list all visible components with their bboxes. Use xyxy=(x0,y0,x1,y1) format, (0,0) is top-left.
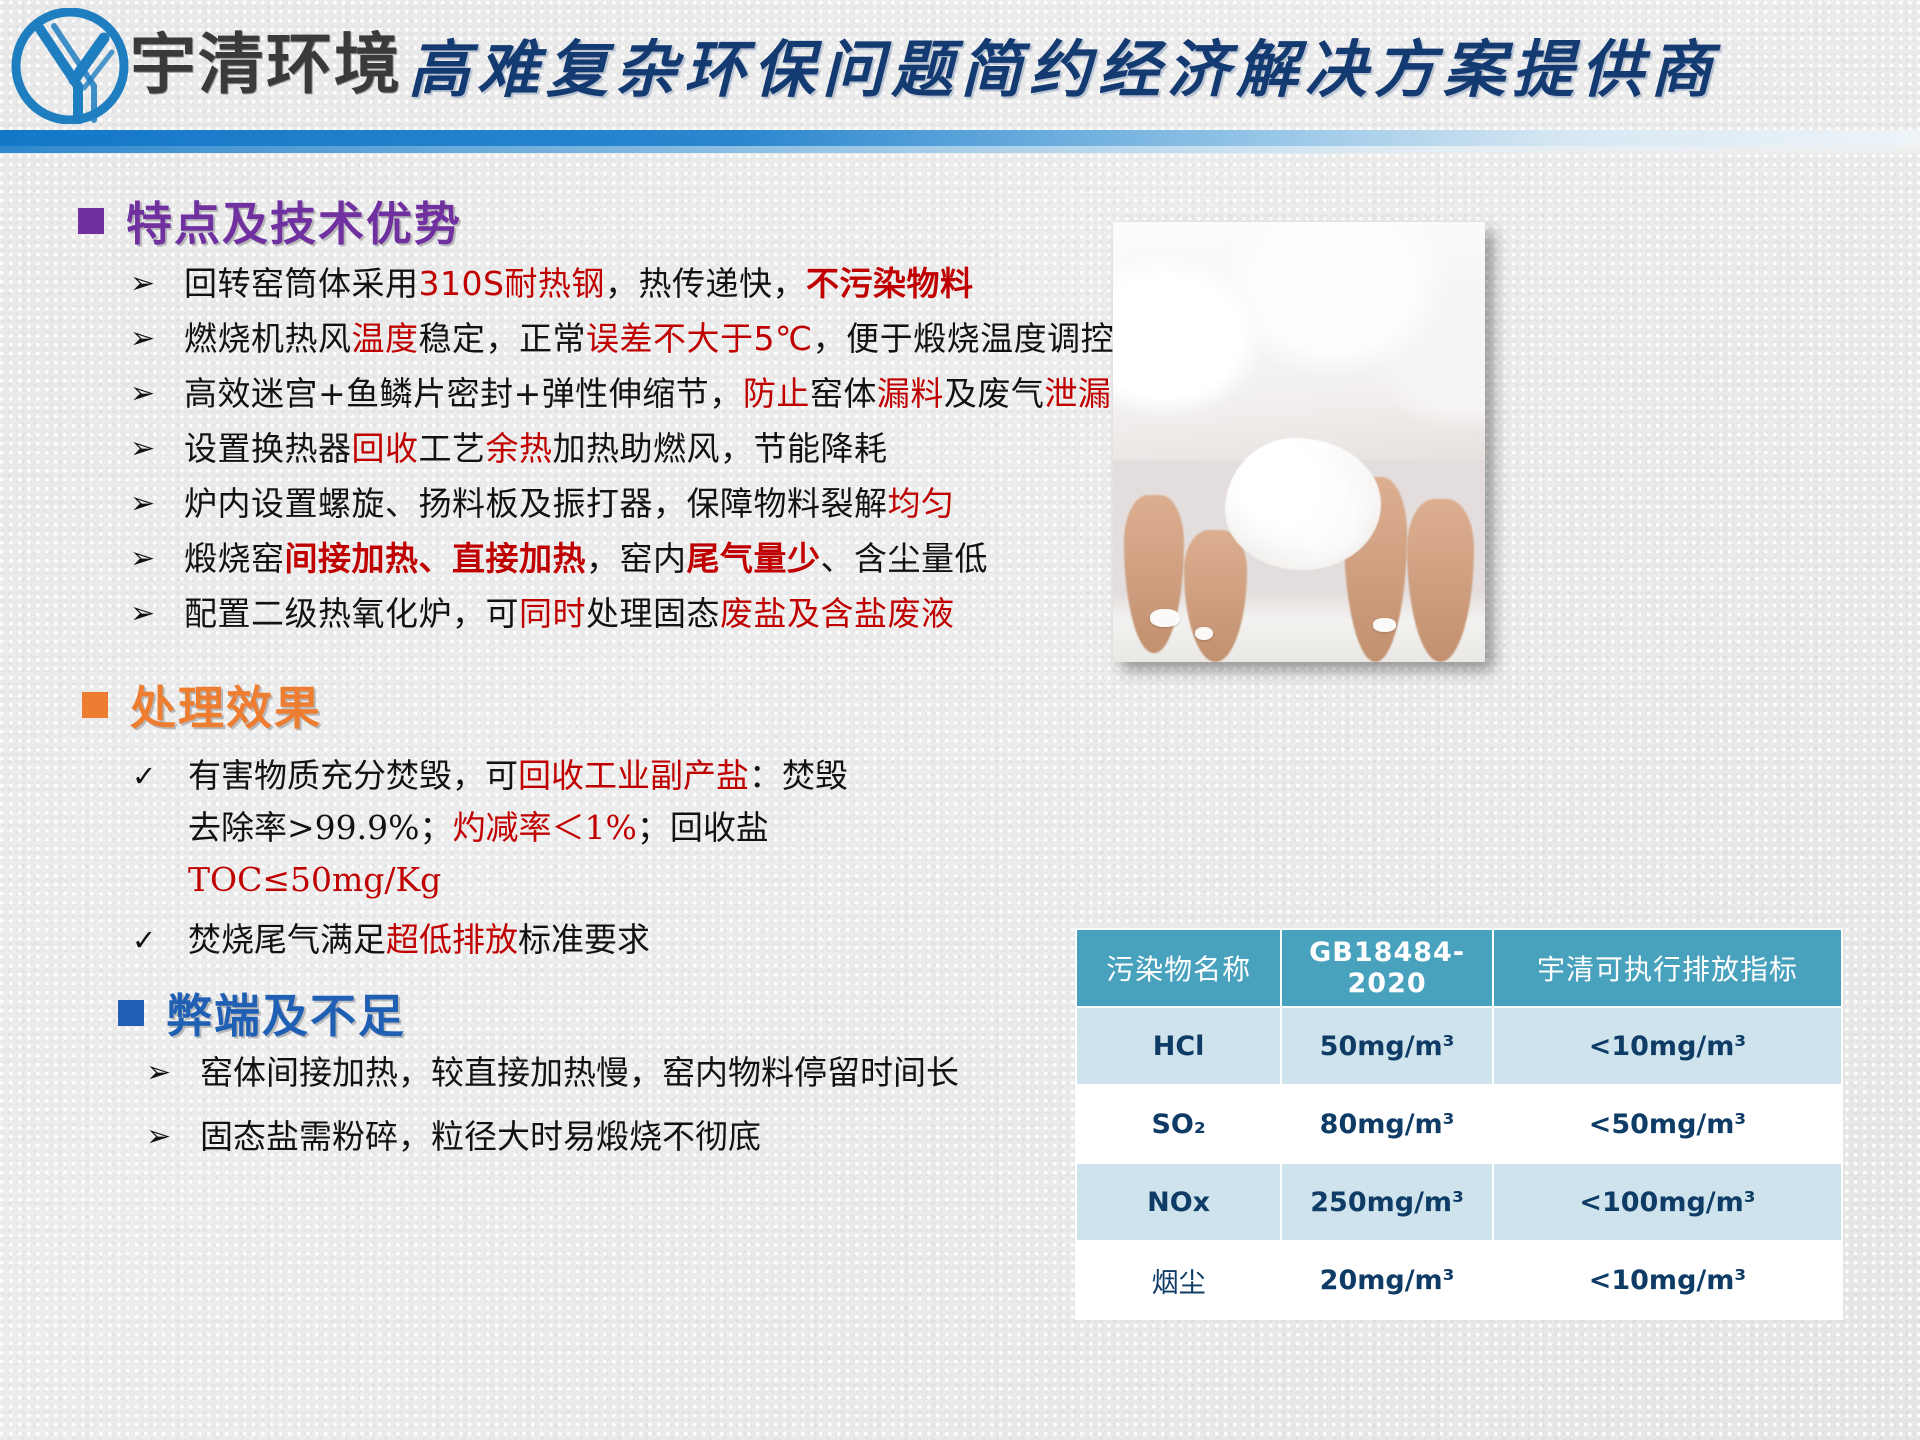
list-item: ➢窑体间接加热，较直接加热慢，窑内物料停留时间长 xyxy=(146,1050,1156,1096)
list-item: ➢煅烧窑间接加热、直接加热，窑内尾气量少、含尘量低 xyxy=(130,537,1140,581)
text-run: 固态盐需粉碎，粒径大时易煅烧不彻底 xyxy=(200,1117,761,1156)
table-cell-standard: 20mg/m³ xyxy=(1281,1241,1493,1319)
text-run: 回收工业副产盐 xyxy=(518,756,749,795)
table-row: HCl50mg/m³<10mg/m³ xyxy=(1076,1007,1842,1085)
table-column-header: 宇清可执行排放指标 xyxy=(1493,929,1842,1007)
table-cell-standard: 250mg/m³ xyxy=(1281,1163,1493,1241)
bullet-square-icon xyxy=(82,692,108,718)
list-item-text: 焚烧尾气满足超低排放标准要求 xyxy=(188,914,650,966)
text-run: 标准要求 xyxy=(518,920,650,959)
company-slogan: 高难复杂环保问题简约经济解决方案提供商 xyxy=(408,24,1719,116)
text-run: 防止 xyxy=(743,374,810,413)
bullet-marker-icon: ➢ xyxy=(130,372,184,416)
text-run: 煅烧窑 xyxy=(184,539,285,578)
text-run: 配置二级热氧化炉，可 xyxy=(184,594,519,633)
bullet-marker-icon: ✓ xyxy=(132,750,188,802)
bullet-marker-icon: ➢ xyxy=(130,592,184,636)
list-item-text: 窑体间接加热，较直接加热慢，窑内物料停留时间长 xyxy=(200,1050,959,1096)
text-run: 及废气 xyxy=(944,374,1045,413)
table-cell-standard: 80mg/m³ xyxy=(1281,1085,1493,1163)
section-title-features: 特点及技术优势 xyxy=(126,188,462,254)
list-item-line: TOC≤50mg/Kg xyxy=(188,854,848,906)
text-run: 灼减率＜1% xyxy=(452,808,636,847)
table-cell-yuqing: <100mg/m³ xyxy=(1493,1163,1842,1241)
bullet-marker-icon: ➢ xyxy=(146,1114,200,1160)
list-item-text: 设置换热器回收工艺余热加热助燃风，节能降耗 xyxy=(184,427,888,471)
features-list: ➢回转窑筒体采用310S耐热钢，热传递快，不污染物料➢燃烧机热风温度稳定，正常误… xyxy=(130,262,1140,647)
section-title-drawbacks: 弊端及不足 xyxy=(166,980,406,1046)
emission-standards-table: 污染物名称GB18484-2020宇清可执行排放指标 HCl50mg/m³<10… xyxy=(1075,928,1843,1320)
table-row: 烟尘20mg/m³<10mg/m³ xyxy=(1076,1241,1842,1319)
table-header: 污染物名称GB18484-2020宇清可执行排放指标 xyxy=(1076,929,1842,1007)
text-run: 漏料 xyxy=(877,374,944,413)
text-run: 燃烧机热风 xyxy=(184,319,352,358)
list-item-text: 煅烧窑间接加热、直接加热，窑内尾气量少、含尘量低 xyxy=(184,537,988,581)
header-divider-primary xyxy=(0,130,1920,146)
section-heading-features: 特点及技术优势 xyxy=(78,188,462,254)
table-body: HCl50mg/m³<10mg/m³SO₂80mg/m³<50mg/m³NOx2… xyxy=(1076,1007,1842,1319)
text-run: 窑体 xyxy=(810,374,877,413)
list-item-line: 去除率>99.9%；灼减率＜1%；回收盐 xyxy=(188,802,848,854)
list-item: ➢回转窑筒体采用310S耐热钢，热传递快，不污染物料 xyxy=(130,262,1140,306)
text-run: 工艺 xyxy=(419,429,486,468)
text-run: 不污染物料 xyxy=(806,264,974,303)
text-run: 余热 xyxy=(486,429,553,468)
text-run: 回收 xyxy=(352,429,419,468)
text-run: 温度 xyxy=(352,319,419,358)
table-row: NOx250mg/m³<100mg/m³ xyxy=(1076,1163,1842,1241)
effects-list: ✓有害物质充分焚毁，可回收工业副产盐：焚毁去除率>99.9%；灼减率＜1%；回收… xyxy=(132,750,922,974)
text-run: 同时 xyxy=(519,594,586,633)
text-run: 稳定，正常 xyxy=(419,319,587,358)
text-run: 加热助燃风，节能降耗 xyxy=(553,429,888,468)
list-item-text: 炉内设置螺旋、扬料板及振打器，保障物料裂解均匀 xyxy=(184,482,955,526)
list-item-text: 高效迷宫+鱼鳞片密封+弹性伸缩节，防止窑体漏料及废气泄漏 xyxy=(184,372,1111,416)
yuqing-oval-logo-icon xyxy=(8,8,132,124)
text-run: 去除率>99.9%； xyxy=(188,808,452,847)
bullet-square-icon xyxy=(78,208,104,234)
bullet-marker-icon: ➢ xyxy=(130,427,184,471)
bullet-marker-icon: ✓ xyxy=(132,914,188,966)
table-cell-pollutant: HCl xyxy=(1076,1007,1281,1085)
text-run: ，便于煅烧温度调控 xyxy=(813,319,1115,358)
company-name: 宇清环境 xyxy=(130,22,402,108)
table-header-row: 污染物名称GB18484-2020宇清可执行排放指标 xyxy=(1076,929,1842,1007)
list-item: ✓焚烧尾气满足超低排放标准要求 xyxy=(132,914,922,966)
text-run: 焚烧尾气满足 xyxy=(188,920,386,959)
text-run: 超低排放 xyxy=(386,920,518,959)
table-cell-yuqing: <50mg/m³ xyxy=(1493,1085,1842,1163)
table-cell-pollutant: NOx xyxy=(1076,1163,1281,1241)
table-column-header: 污染物名称 xyxy=(1076,929,1281,1007)
list-item-line: 有害物质充分焚毁，可回收工业副产盐：焚毁 xyxy=(188,750,848,802)
text-run: 处理固态 xyxy=(586,594,720,633)
list-item: ➢设置换热器回收工艺余热加热助燃风，节能降耗 xyxy=(130,427,1140,471)
table-cell-yuqing: <10mg/m³ xyxy=(1493,1007,1842,1085)
text-run: 高效迷宫+鱼鳞片密封+弹性伸缩节， xyxy=(184,374,743,413)
table-cell-pollutant: 烟尘 xyxy=(1076,1241,1281,1319)
list-item: ➢高效迷宫+鱼鳞片密封+弹性伸缩节，防止窑体漏料及废气泄漏 xyxy=(130,372,1140,416)
text-run: ，窑内 xyxy=(586,539,687,578)
text-run: ：焚毁 xyxy=(749,756,848,795)
text-run: 有害物质充分焚毁，可 xyxy=(188,756,518,795)
text-run: 间接加热、直接加热 xyxy=(285,539,587,578)
header-divider-secondary xyxy=(0,146,1920,153)
list-item: ➢配置二级热氧化炉，可同时处理固态废盐及含盐废液 xyxy=(130,592,1140,636)
text-run: 窑体间接加热，较直接加热慢，窑内物料停留时间长 xyxy=(200,1053,959,1092)
list-item-line: 焚烧尾气满足超低排放标准要求 xyxy=(188,914,650,966)
list-item: ➢燃烧机热风温度稳定，正常误差不大于5℃，便于煅烧温度调控 xyxy=(130,317,1140,361)
table-column-header: GB18484-2020 xyxy=(1281,929,1493,1007)
table-cell-pollutant: SO₂ xyxy=(1076,1085,1281,1163)
text-run: 均匀 xyxy=(888,484,955,523)
text-run: 误差不大于5℃ xyxy=(586,319,813,358)
bullet-marker-icon: ➢ xyxy=(146,1050,200,1096)
list-item-text: 燃烧机热风温度稳定，正常误差不大于5℃，便于煅烧温度调控 xyxy=(184,317,1114,361)
text-run: 设置换热器 xyxy=(184,429,352,468)
section-heading-drawbacks: 弊端及不足 xyxy=(118,980,406,1046)
list-item-text: 固态盐需粉碎，粒径大时易煅烧不彻底 xyxy=(200,1114,761,1160)
bullet-marker-icon: ➢ xyxy=(130,317,184,361)
text-run: ；回收盐 xyxy=(637,808,769,847)
bullet-square-icon xyxy=(118,1000,144,1026)
text-run: 泄漏 xyxy=(1044,374,1111,413)
list-item: ➢固态盐需粉碎，粒径大时易煅烧不彻底 xyxy=(146,1114,1156,1160)
drawbacks-list: ➢窑体间接加热，较直接加热慢，窑内物料停留时间长➢固态盐需粉碎，粒径大时易煅烧不… xyxy=(146,1050,1156,1178)
text-run: 310S耐热钢 xyxy=(419,264,605,303)
table-row: SO₂80mg/m³<50mg/m³ xyxy=(1076,1085,1842,1163)
text-run: 废盐及含盐废液 xyxy=(720,594,955,633)
table-cell-standard: 50mg/m³ xyxy=(1281,1007,1493,1085)
list-item-text: 配置二级热氧化炉，可同时处理固态废盐及含盐废液 xyxy=(184,592,955,636)
page-header: 宇清环境 高难复杂环保问题简约经济解决方案提供商 xyxy=(0,0,1920,132)
text-run: ，热传递快， xyxy=(605,264,806,303)
bullet-marker-icon: ➢ xyxy=(130,482,184,526)
text-run: 尾气量少 xyxy=(687,539,821,578)
section-title-effects: 处理效果 xyxy=(130,672,322,738)
section-heading-effects: 处理效果 xyxy=(82,672,322,738)
text-run: 炉内设置螺旋、扬料板及振打器，保障物料裂解 xyxy=(184,484,888,523)
list-item-text: 回转窑筒体采用310S耐热钢，热传递快，不污染物料 xyxy=(184,262,973,306)
list-item: ✓有害物质充分焚毁，可回收工业副产盐：焚毁去除率>99.9%；灼减率＜1%；回收… xyxy=(132,750,922,906)
text-run: TOC≤50mg/Kg xyxy=(188,860,441,899)
bullet-marker-icon: ➢ xyxy=(130,262,184,306)
salt-product-photo xyxy=(1113,222,1485,662)
text-run: 、含尘量低 xyxy=(821,539,989,578)
text-run: 回转窑筒体采用 xyxy=(184,264,419,303)
list-item: ➢炉内设置螺旋、扬料板及振打器，保障物料裂解均匀 xyxy=(130,482,1140,526)
bullet-marker-icon: ➢ xyxy=(130,537,184,581)
list-item-text: 有害物质充分焚毁，可回收工业副产盐：焚毁去除率>99.9%；灼减率＜1%；回收盐… xyxy=(188,750,848,906)
table-cell-yuqing: <10mg/m³ xyxy=(1493,1241,1842,1319)
